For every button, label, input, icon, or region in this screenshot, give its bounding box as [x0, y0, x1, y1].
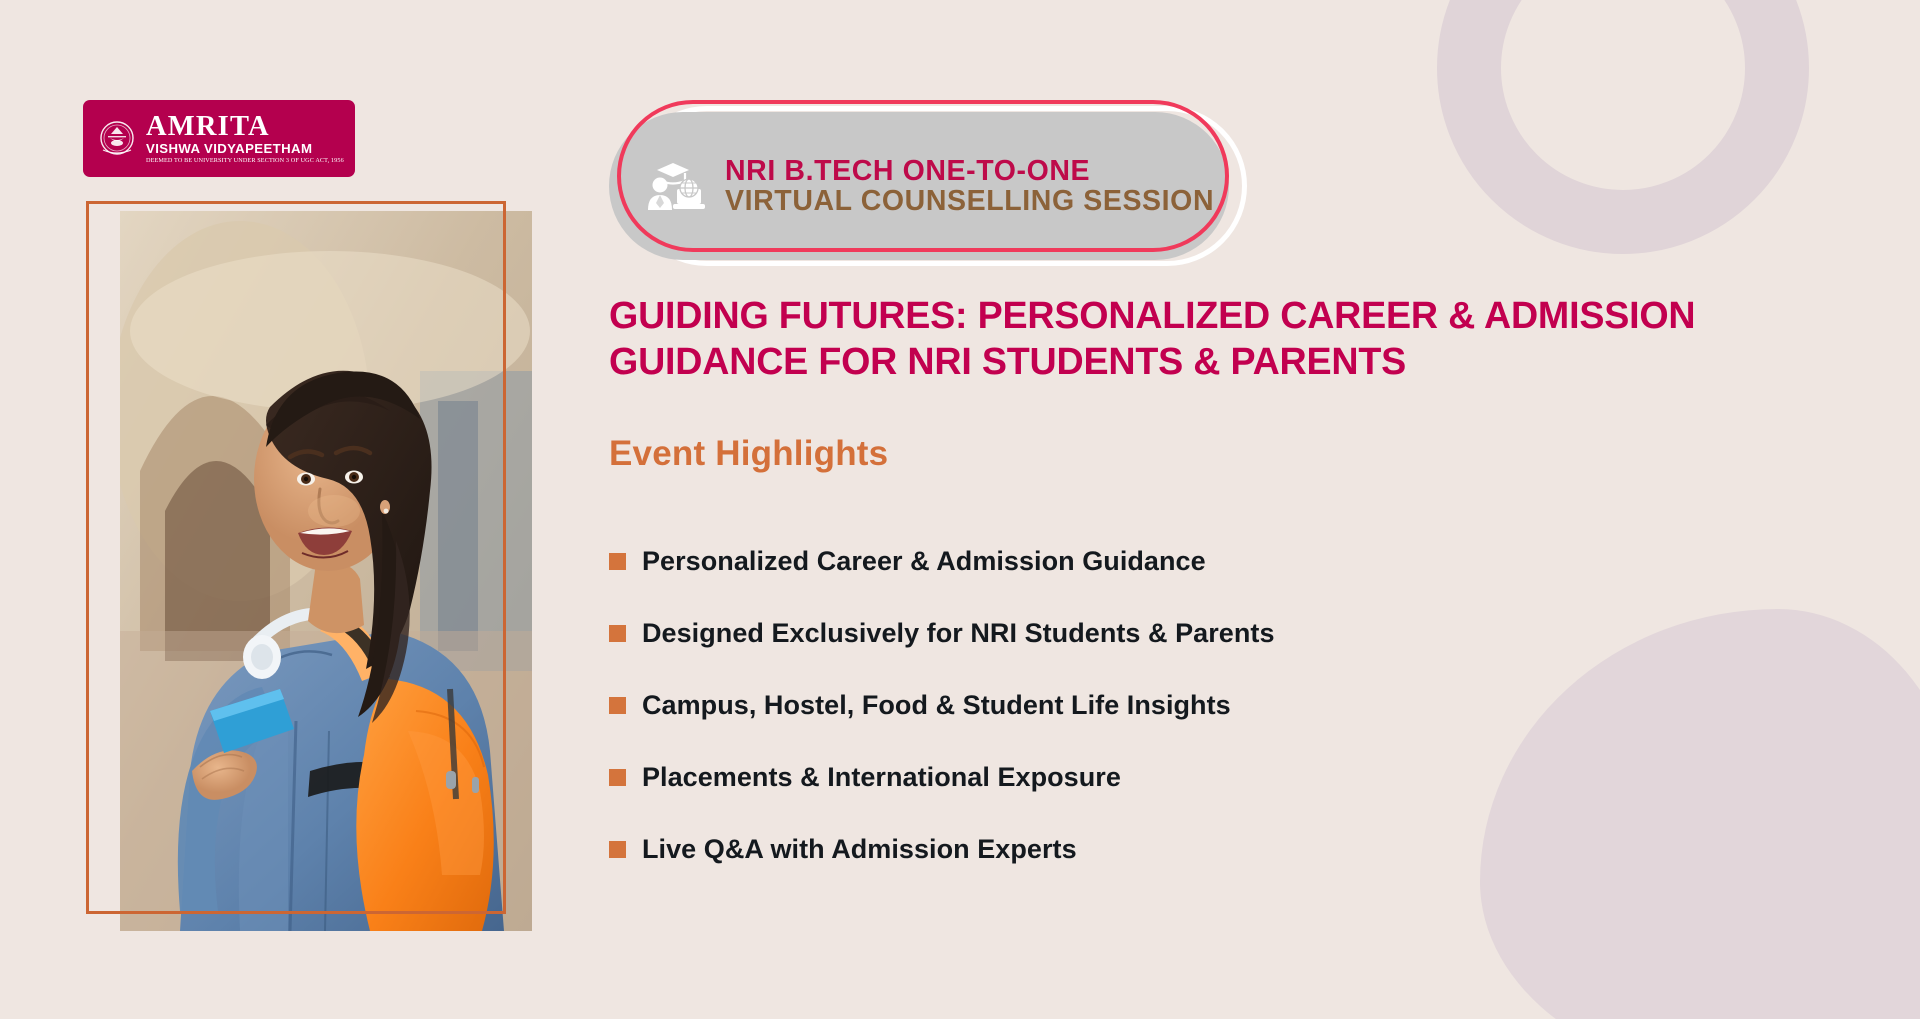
event-highlights-list: Personalized Career & Admission Guidance…	[609, 525, 1709, 885]
list-item: Placements & International Exposure	[609, 741, 1709, 813]
list-item-label: Campus, Hostel, Food & Student Life Insi…	[642, 690, 1231, 721]
event-highlights-title: Event Highlights	[609, 434, 888, 474]
banner-line-2: VIRTUAL COUNSELLING SESSION	[725, 186, 1214, 216]
list-item-label: Personalized Career & Admission Guidance	[642, 546, 1206, 577]
logo-tagline: DEEMED TO BE UNIVERSITY UNDER SECTION 3 …	[146, 158, 344, 164]
bullet-square-icon	[609, 625, 626, 642]
list-item-label: Designed Exclusively for NRI Students & …	[642, 618, 1275, 649]
photo-frame-border	[86, 201, 506, 914]
session-banner: NRI B.TECH ONE-TO-ONE VIRTUAL COUNSELLIN…	[609, 100, 1249, 270]
list-item-label: Live Q&A with Admission Experts	[642, 834, 1077, 865]
list-item-label: Placements & International Exposure	[642, 762, 1121, 793]
bullet-square-icon	[609, 841, 626, 858]
page-title: GUIDING FUTURES: PERSONALIZED CAREER & A…	[609, 293, 1827, 386]
list-item: Campus, Hostel, Food & Student Life Insi…	[609, 669, 1709, 741]
counselling-session-icon	[645, 158, 707, 214]
list-item: Personalized Career & Admission Guidance	[609, 525, 1709, 597]
logo-subtitle: VISHWA VIDYAPEETHAM	[146, 142, 312, 155]
amrita-crest-icon	[97, 119, 137, 159]
list-item: Live Q&A with Admission Experts	[609, 813, 1709, 885]
logo-name: AMRITA	[146, 113, 270, 142]
bullet-square-icon	[609, 769, 626, 786]
list-item: Designed Exclusively for NRI Students & …	[609, 597, 1709, 669]
bullet-square-icon	[609, 697, 626, 714]
bullet-square-icon	[609, 553, 626, 570]
banner-line-1: NRI B.TECH ONE-TO-ONE	[725, 156, 1214, 186]
amrita-logo: AMRITA VISHWA VIDYAPEETHAM DEEMED TO BE …	[83, 100, 355, 177]
ring-decoration	[1437, 0, 1809, 254]
student-photo-block	[120, 211, 540, 931]
